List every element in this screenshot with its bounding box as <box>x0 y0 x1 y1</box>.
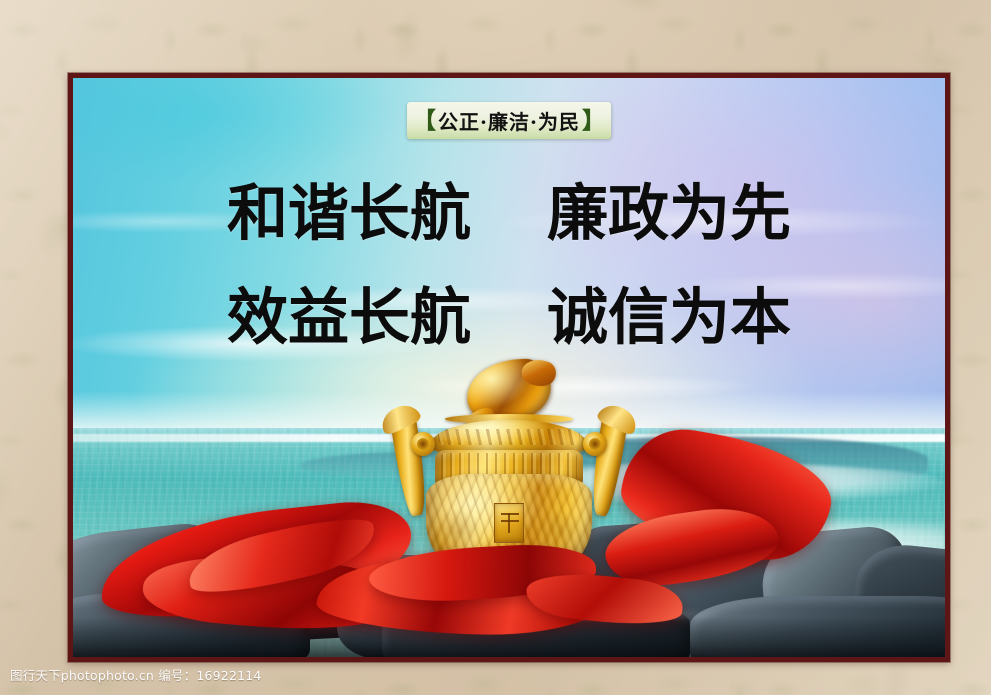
artwork-frame: 【 公正·廉洁·为民 】 和谐长航 廉政为先 效益长航 诚信为本 <box>68 73 950 662</box>
banner-slogan-text: 公正·廉洁·为民 <box>436 104 582 137</box>
ding-cartouche-seal <box>494 503 524 543</box>
bracket-left-icon: 【 <box>413 109 436 132</box>
poster-canvas: 【 公正·廉洁·为民 】 和谐长航 廉政为先 效益长航 诚信为本 图行天下pho… <box>0 0 991 695</box>
stock-watermark: 图行天下photophoto.cn 编号：16922114 <box>10 665 262 684</box>
bracket-right-icon: 】 <box>582 109 605 132</box>
ding-boss-left <box>411 432 435 456</box>
title-banner: 【 公正·廉洁·为民 】 <box>407 102 611 139</box>
ding-handle-right <box>587 411 629 518</box>
ding-handle-left <box>389 411 431 518</box>
ding-boss-right <box>583 432 607 456</box>
ding-lid <box>430 420 588 454</box>
artwork-scene: 【 公正·廉洁·为民 】 和谐长航 廉政为先 效益长航 诚信为本 <box>73 78 945 657</box>
